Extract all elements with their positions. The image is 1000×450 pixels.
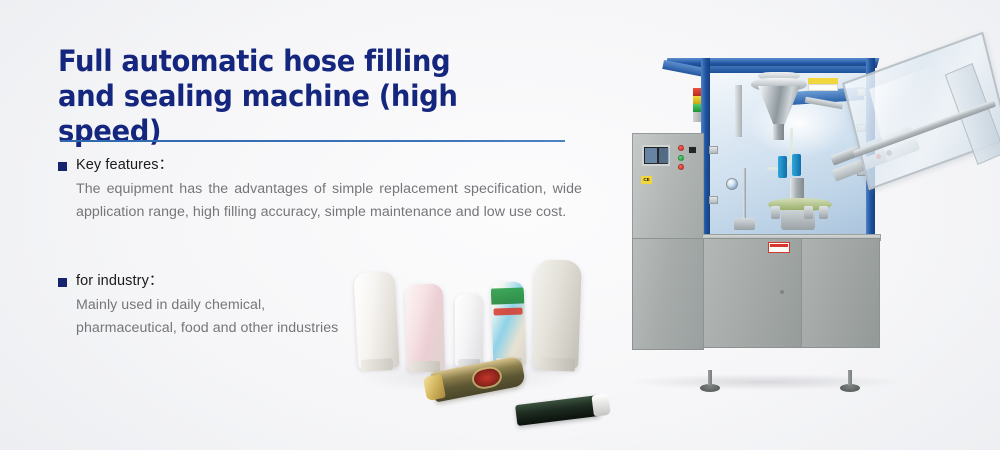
guide-rod xyxy=(743,168,746,224)
tube-white-small xyxy=(455,294,483,366)
key-features-body: The equipment has the advantages of simp… xyxy=(76,178,582,224)
cabinet-left-panel xyxy=(632,238,704,350)
tube-white-large xyxy=(356,272,397,368)
for-industry-body: Mainly used in daily chemical, pharmaceu… xyxy=(76,294,368,340)
ce-mark-label: CE xyxy=(641,176,652,184)
tower-lamp-yellow xyxy=(693,96,701,104)
cabinet-middle-door xyxy=(703,238,802,348)
tube-holder xyxy=(819,206,828,219)
stop-button xyxy=(678,164,684,170)
tube-holder xyxy=(804,206,813,219)
tower-lamp-red xyxy=(693,88,701,96)
frame-mount xyxy=(709,196,718,204)
selector-switch xyxy=(688,146,697,154)
cabinet-warning-label xyxy=(768,242,790,253)
start-button xyxy=(678,155,684,161)
square-bullet-icon xyxy=(58,278,67,287)
tube-green-sunplay xyxy=(492,282,525,366)
guide-rod-base xyxy=(734,218,755,230)
key-features-heading-row: Key features： xyxy=(58,156,582,175)
machine-foot xyxy=(840,384,860,392)
machine-foot xyxy=(700,384,720,392)
cabinet-door-handle xyxy=(780,290,784,294)
tube-beige-large xyxy=(534,260,580,368)
hose-filling-sealing-machine-photo: CE xyxy=(608,28,998,396)
pneumatic-cylinder xyxy=(792,154,801,176)
tube-holder xyxy=(771,206,780,219)
pneumatic-cylinder xyxy=(778,156,787,178)
hmi-screen-left xyxy=(645,148,657,163)
title-divider xyxy=(60,140,565,142)
cabinet-right-door xyxy=(801,238,880,348)
cosmetic-hose-tubes-photo xyxy=(352,252,604,424)
warning-label-white xyxy=(808,84,838,91)
tube-darkgreen-flat xyxy=(515,395,601,426)
vertical-pipe xyxy=(735,85,742,137)
for-industry-block: for industry： Mainly used in daily chemi… xyxy=(58,272,368,340)
tube-pink xyxy=(406,284,444,370)
for-industry-heading: for industry： xyxy=(76,272,164,291)
pressure-gauge xyxy=(726,178,738,190)
frame-mount xyxy=(709,146,718,154)
key-features-block: Key features： The equipment has the adva… xyxy=(58,156,582,224)
hmi-touchscreen xyxy=(642,145,670,166)
square-bullet-icon xyxy=(58,162,67,171)
hmi-screen-right xyxy=(659,148,669,163)
key-features-heading: Key features： xyxy=(76,156,173,175)
tower-lamp-green xyxy=(693,104,701,112)
emergency-stop-button xyxy=(678,145,684,151)
text-column: Full automatic hose filling and sealing … xyxy=(58,44,578,149)
for-industry-heading-row: for industry： xyxy=(58,272,368,291)
page-title: Full automatic hose filling and sealing … xyxy=(58,44,542,149)
product-banner: Full automatic hose filling and sealing … xyxy=(0,0,1000,450)
